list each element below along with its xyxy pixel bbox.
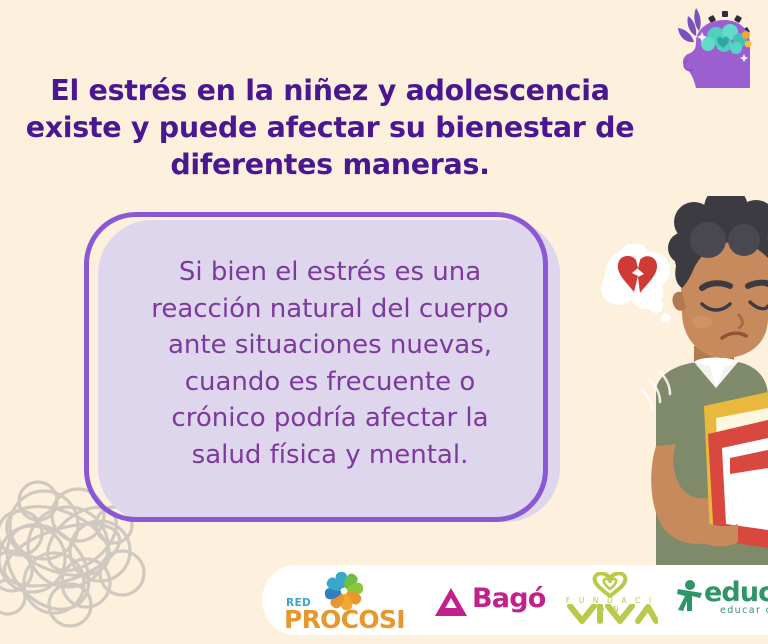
head-with-plants-and-gear-icon [666, 2, 762, 88]
title-line-2: existe y puede afectar su bienestar de [0, 109, 660, 146]
quote-card-text: Si bien el estrés es una reacción natura… [96, 254, 564, 473]
logo-red-procosi-main-word: PROCOSI [284, 605, 405, 634]
logo-educo-tagline: educar cura [720, 605, 768, 616]
quote-line-4: cuando es frecuente o [96, 364, 564, 401]
person-star-icon [676, 579, 704, 613]
triangle-a-icon [434, 586, 468, 618]
quote-line-1: Si bien el estrés es una [96, 254, 564, 291]
quote-card: Si bien el estrés es una reacción natura… [84, 212, 564, 530]
quote-line-3: ante situaciones nuevas, [96, 327, 564, 364]
poster-canvas: El estrés en la niñez y adolescencia exi… [0, 0, 768, 644]
logo-educo[interactable]: educo educar cura [676, 577, 768, 623]
quote-line-2: reacción natural del cuerpo [96, 291, 564, 328]
quote-line-6: salud física y mental. [96, 437, 564, 474]
logo-red-procosi[interactable]: RED PROCOSI [284, 571, 400, 629]
logo-bago-main-word: Bagó [472, 583, 545, 614]
logo-fundacion-viva[interactable]: F U N D A C I Ó N [562, 574, 658, 626]
broken-heart-thought-bubble-icon [600, 244, 678, 324]
partner-logo-bar: RED PROCOSI Bagó F U N D A C I Ó N [262, 565, 768, 635]
heart-swirl-icon [590, 572, 630, 598]
logo-bago[interactable]: Bagó [434, 580, 540, 620]
page-title: El estrés en la niñez y adolescencia exi… [0, 72, 660, 183]
title-line-3: diferentes maneras. [0, 146, 660, 183]
logo-viva-wordmark [562, 604, 658, 626]
logo-educo-main-word: educo [704, 577, 768, 608]
quote-line-5: crónico podría afectar la [96, 400, 564, 437]
title-line-1: El estrés en la niñez y adolescencia [0, 72, 660, 109]
